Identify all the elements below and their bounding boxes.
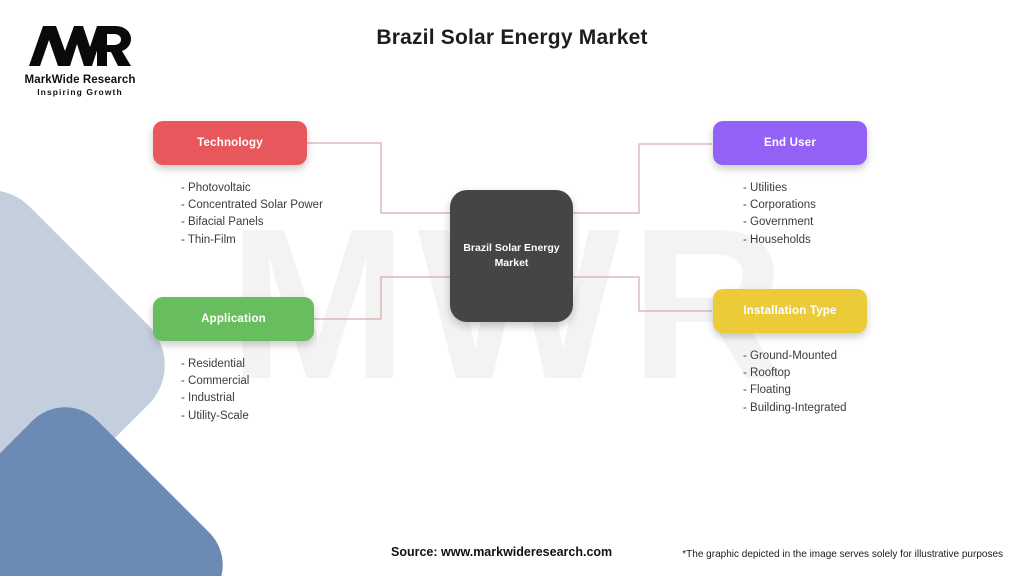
list-item: - Corporations — [743, 197, 867, 214]
branch-end-user-label: End User — [764, 137, 816, 149]
branch-application-label: Application — [201, 313, 266, 325]
branch-technology: Technology - Photovoltaic - Concentrated… — [153, 121, 307, 265]
list-item: - Residential — [181, 356, 314, 373]
list-item: - Commercial — [181, 373, 314, 390]
branch-installation-type-pill[interactable]: Installation Type — [713, 289, 867, 333]
branch-end-user-pill[interactable]: End User — [713, 121, 867, 165]
center-node: Brazil Solar Energy Market — [450, 190, 573, 322]
branch-end-user-list: - Utilities - Corporations - Government … — [713, 180, 867, 249]
list-item: - Industrial — [181, 390, 314, 407]
list-item: - Ground-Mounted — [743, 348, 867, 365]
list-item: - Thin-Film — [181, 232, 307, 249]
branch-installation-type-label: Installation Type — [743, 305, 836, 317]
list-item: - Utilities — [743, 180, 867, 197]
list-item: - Rooftop — [743, 365, 867, 382]
list-item: - Building-Integrated — [743, 400, 867, 417]
branch-installation-type: Installation Type - Ground-Mounted - Roo… — [713, 289, 867, 433]
branch-technology-label: Technology — [197, 137, 263, 149]
list-item: - Government — [743, 214, 867, 231]
branch-application-pill[interactable]: Application — [153, 297, 314, 341]
branch-installation-type-list: - Ground-Mounted - Rooftop - Floating - … — [713, 348, 867, 417]
center-node-label: Brazil Solar Energy Market — [450, 241, 573, 271]
footer-disclaimer: *The graphic depicted in the image serve… — [682, 549, 1003, 560]
branch-end-user: End User - Utilities - Corporations - Go… — [713, 121, 867, 265]
list-item: - Photovoltaic — [181, 180, 307, 197]
infographic-canvas: MWR MarkWide Research Inspiring Growth B… — [0, 0, 1024, 576]
footer-source: Source: www.markwideresearch.com — [391, 545, 612, 559]
branch-technology-list: - Photovoltaic - Concentrated Solar Powe… — [153, 180, 307, 249]
list-item: - Floating — [743, 382, 867, 399]
branch-application: Application - Residential - Commercial -… — [153, 297, 314, 441]
list-item: - Households — [743, 232, 867, 249]
list-item: - Concentrated Solar Power — [181, 197, 307, 214]
branch-technology-pill[interactable]: Technology — [153, 121, 307, 165]
branch-application-list: - Residential - Commercial - Industrial … — [153, 356, 314, 425]
list-item: - Bifacial Panels — [181, 214, 307, 231]
list-item: - Utility-Scale — [181, 408, 314, 425]
